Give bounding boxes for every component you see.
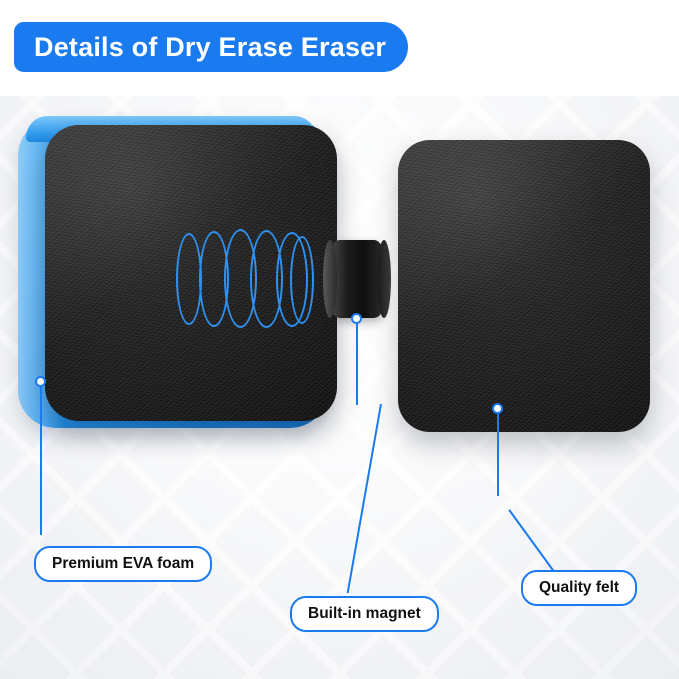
title-text: Details of Dry Erase Eraser	[34, 32, 386, 63]
product-detail-image: Details of Dry Erase Eraser Premium EVA …	[0, 0, 679, 679]
felt-texture-right	[398, 140, 650, 432]
callout-dot-quality-felt	[492, 403, 503, 414]
title-banner: Details of Dry Erase Eraser	[14, 22, 408, 72]
felt-face-right	[398, 140, 650, 432]
callout-text-magnet: Built-in magnet	[308, 605, 421, 623]
callout-dot-eva-foam	[35, 376, 46, 387]
magnet-field-ring-6	[290, 236, 314, 324]
callout-leader-magnet-joint	[356, 403, 358, 405]
callout-leader-magnet-upper	[356, 324, 358, 405]
callout-dot-magnet	[351, 313, 362, 324]
callout-leader-quality-felt-upper	[497, 414, 499, 496]
felt-sheen-right	[398, 140, 650, 432]
callout-label-magnet: Built-in magnet	[290, 596, 439, 632]
callout-label-quality-felt: Quality felt	[521, 570, 637, 606]
callout-text-eva-foam: Premium EVA foam	[52, 555, 194, 573]
callout-leader-eva-foam	[40, 387, 42, 535]
callout-label-eva-foam: Premium EVA foam	[34, 546, 212, 582]
built-in-magnet	[330, 240, 384, 318]
callout-text-quality-felt: Quality felt	[539, 579, 619, 597]
